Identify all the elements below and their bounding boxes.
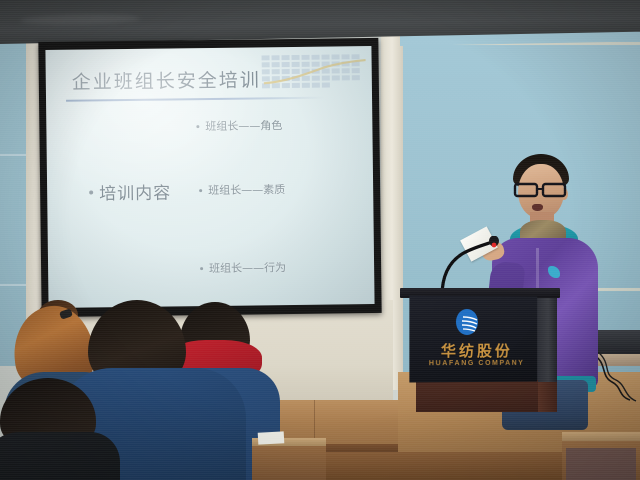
desk-shadow (566, 448, 636, 480)
audience-desk-right (562, 432, 640, 480)
slide-title-rule (66, 97, 324, 102)
slide-surface: 企业班组长安全培训 班组长——角色 培训内容 班组长——素质 班组长——行为 (45, 46, 374, 308)
bullet-dot (200, 267, 203, 270)
bullet-dot (196, 125, 199, 128)
bullet-dot (89, 190, 93, 194)
podium-base-side (537, 382, 557, 412)
bullet-dot (199, 189, 202, 192)
slide-bullet-main: 培训内容 (89, 178, 171, 204)
speaker-mouth (532, 204, 543, 211)
podium: 华纺股份 HUAFANG COMPANY (404, 288, 556, 412)
podium-base (416, 380, 538, 412)
slide-title: 企业班组长安全培训 (72, 65, 261, 94)
slide-bullet-role: 班组长——角色 (196, 117, 282, 134)
projection-screen: 企业班组长安全培训 班组长——角色 培训内容 班组长——素质 班组长——行为 (38, 38, 381, 317)
bullet-text: 班组长——行为 (209, 259, 286, 276)
mic-indicator-led (492, 243, 497, 248)
podium-front-panel: 华纺股份 HUAFANG COMPANY (409, 296, 537, 383)
desk-paper (258, 431, 285, 444)
ceiling-smudge (20, 13, 140, 25)
huafang-logo-icon (454, 308, 480, 338)
bullet-text: 培训内容 (99, 178, 171, 204)
presentation-photo: 企业班组长安全培训 班组长——角色 培训内容 班组长——素质 班组长——行为 (0, 0, 640, 480)
attendee-front-body (0, 432, 120, 480)
slide-decoration-grid (262, 54, 368, 89)
slide-bullet-quality: 班组长——素质 (199, 181, 285, 198)
bullet-text: 班组长——素质 (208, 181, 285, 198)
podium-company-name-en: HUAFANG COMPANY (409, 360, 543, 368)
bullet-text: 班组长——角色 (205, 117, 282, 134)
slide-bullet-behaviour: 班组长——行为 (200, 259, 286, 276)
eyeglasses-icon (513, 182, 571, 198)
desk-surface (562, 432, 640, 441)
podium-company-name-cn: 华纺股份 (409, 340, 543, 361)
